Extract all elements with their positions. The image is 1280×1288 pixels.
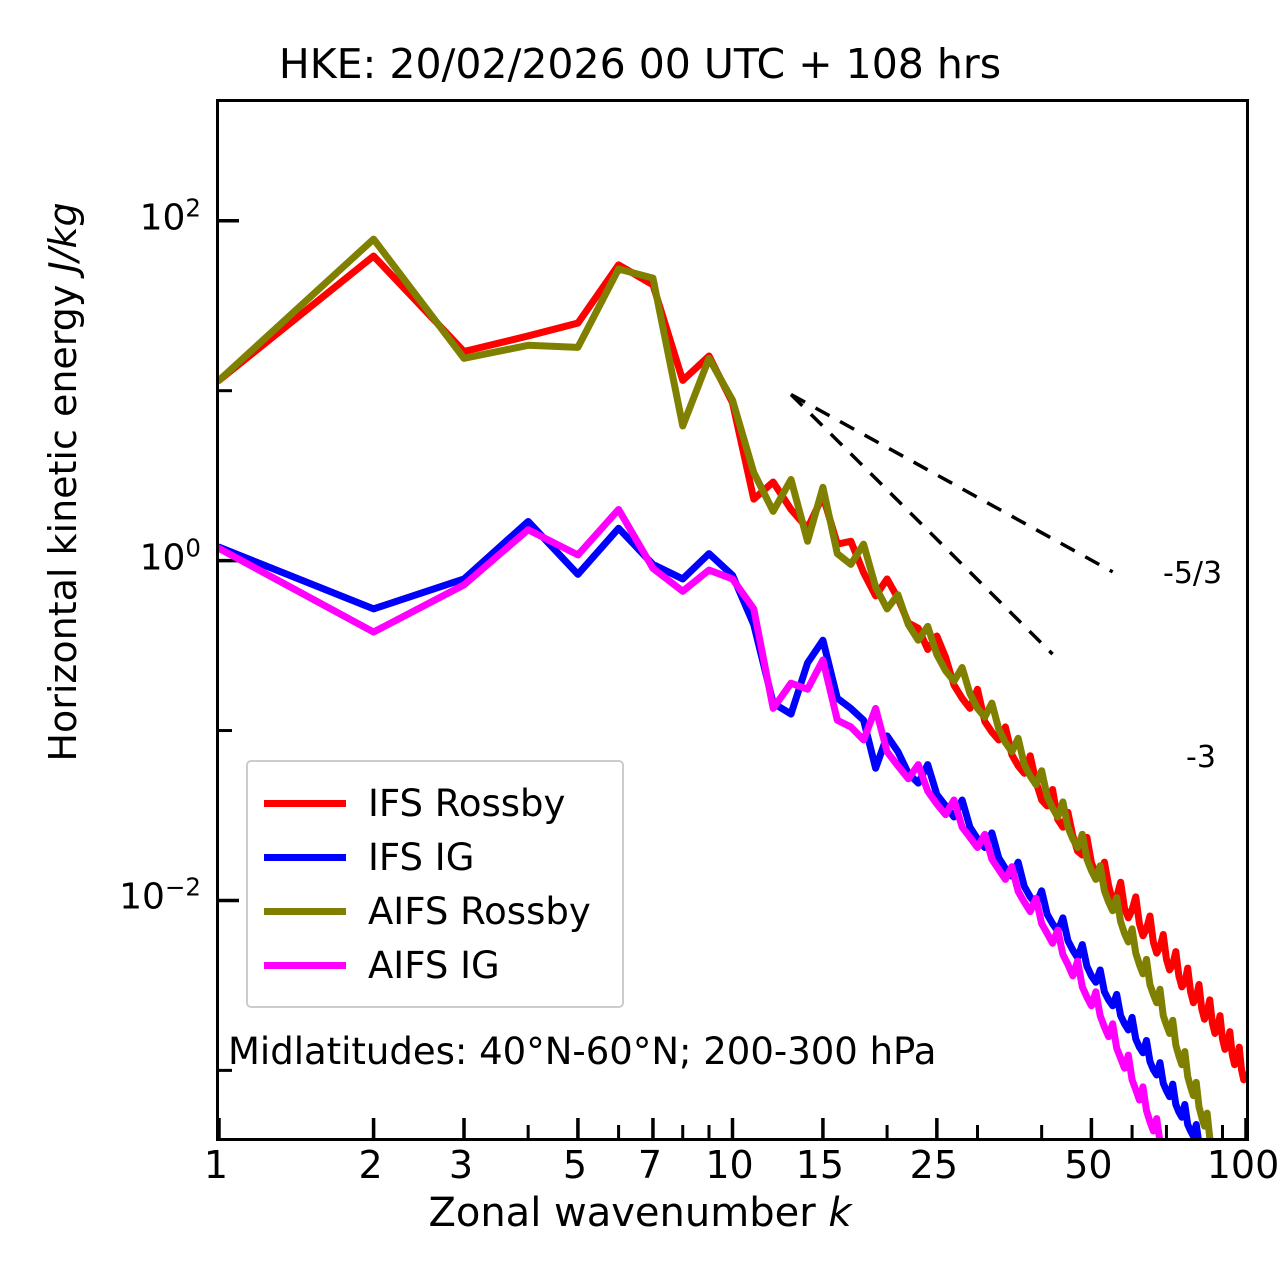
x-tick-label: 3: [449, 1143, 473, 1187]
y-tick-label: 10−2: [119, 877, 201, 918]
x-axis-label-text: Zonal wavenumber: [428, 1190, 828, 1236]
page-title: HKE: 20/02/2026 00 UTC + 108 hrs: [0, 40, 1280, 88]
legend-item: IFS Rossby: [264, 776, 604, 830]
y-axis-label-unit: J/kg: [41, 202, 85, 272]
y-axis-label-text: Horizontal kinetic energy: [41, 273, 85, 762]
legend-color-swatch: [264, 800, 346, 807]
region-annotation: Midlatitudes: 40°N-60°N; 200-300 hPa: [228, 1030, 936, 1073]
x-tick-label: 10: [705, 1143, 753, 1187]
x-tick-label: 15: [796, 1143, 844, 1187]
legend-label: IFS IG: [368, 839, 474, 876]
x-tick-label: 50: [1064, 1143, 1112, 1187]
legend-color-swatch: [264, 908, 346, 915]
chart-legend: IFS RossbyIFS IGAIFS RossbyAIFS IG: [246, 760, 624, 1008]
x-tick-label: 25: [910, 1143, 958, 1187]
slope-label-minus-three: -3: [1186, 740, 1216, 775]
x-tick-label: 1: [204, 1143, 228, 1187]
y-tick-label: 100: [140, 537, 201, 578]
y-axis-label: Horizontal kinetic energy J/kg: [41, 0, 85, 1000]
x-tick-label: 7: [638, 1143, 662, 1187]
x-axis-label: Zonal wavenumber k: [0, 1190, 1280, 1236]
y-tick-label: 102: [140, 197, 201, 238]
legend-item: IFS IG: [264, 830, 604, 884]
x-tick-label: 100: [1207, 1143, 1280, 1187]
x-tick-label: 2: [358, 1143, 382, 1187]
legend-label: AIFS IG: [368, 947, 500, 984]
legend-color-swatch: [264, 962, 346, 969]
x-tick-label: 5: [563, 1143, 587, 1187]
legend-label: IFS Rossby: [368, 785, 565, 822]
slope-label-five-thirds: -5/3: [1163, 556, 1222, 591]
chart-figure: HKE: 20/02/2026 00 UTC + 108 hrs Horizon…: [0, 0, 1280, 1288]
legend-item: AIFS IG: [264, 938, 604, 992]
legend-color-swatch: [264, 854, 346, 861]
legend-label: AIFS Rossby: [368, 893, 591, 930]
x-axis-label-symbol: k: [828, 1190, 851, 1236]
legend-item: AIFS Rossby: [264, 884, 604, 938]
